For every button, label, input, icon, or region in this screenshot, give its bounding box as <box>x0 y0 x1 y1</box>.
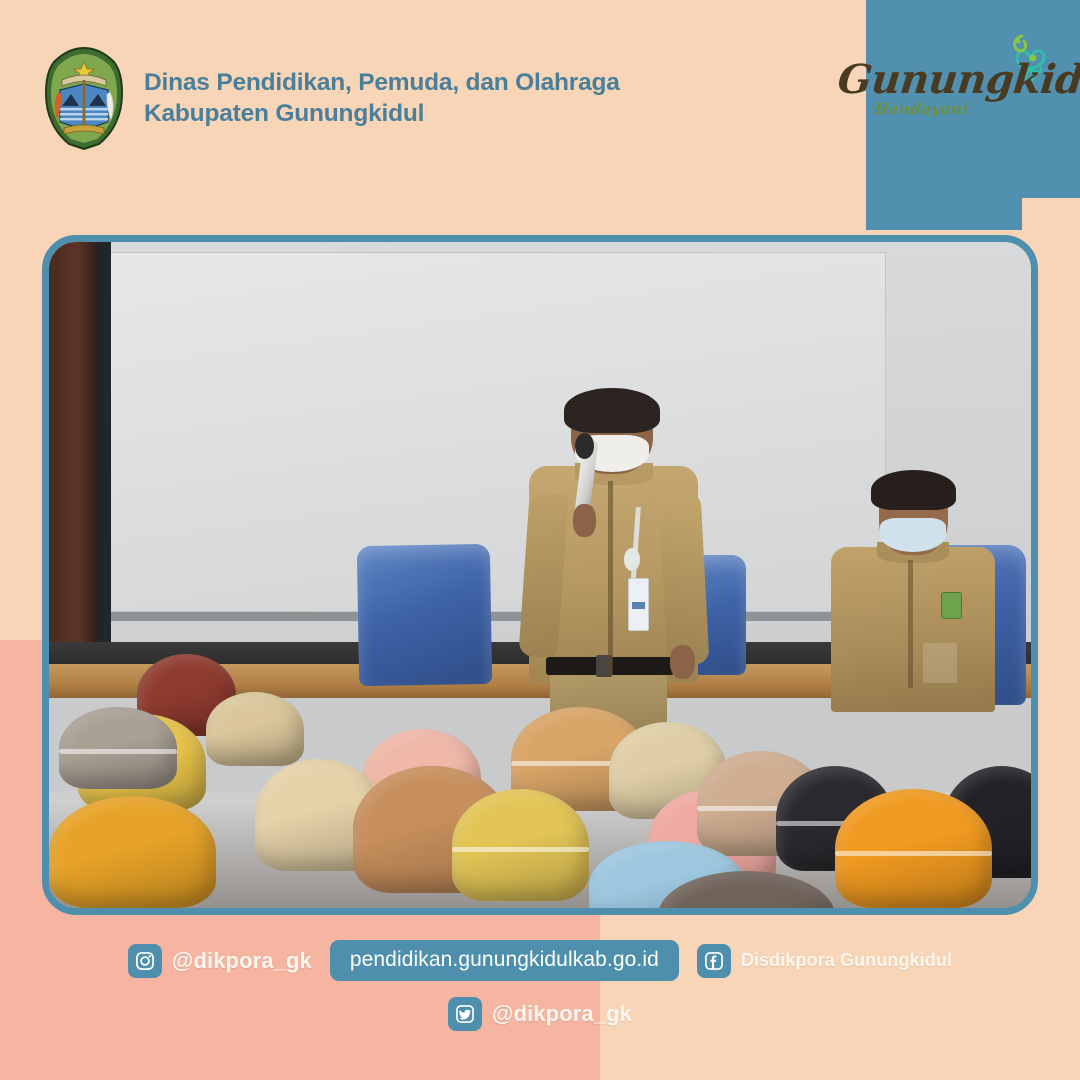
audience-group <box>49 535 1031 908</box>
hijab-orange-front <box>49 796 216 908</box>
hijab-yellow-mid <box>452 789 589 901</box>
poster-canvas: Dinas Pendidikan, Pemuda, dan Olahraga K… <box>0 0 1080 1080</box>
mask-strap <box>59 749 177 754</box>
speaker-hand-holding-mic <box>573 504 596 538</box>
mask-strap <box>452 847 589 852</box>
hijab-grey-mesh <box>59 707 177 789</box>
mask-strap <box>835 851 992 856</box>
event-photo <box>49 242 1031 908</box>
footer: @dikpora_gk pendidikan.gunungkidulkab.go… <box>0 940 1080 1031</box>
event-photo-frame <box>42 235 1038 915</box>
footer-row-primary: @dikpora_gk pendidikan.gunungkidulkab.go… <box>0 940 1080 981</box>
hijab-orange-right <box>835 789 992 908</box>
instagram-contact[interactable]: @dikpora_gk <box>128 944 312 978</box>
header-title-block: Dinas Pendidikan, Pemuda, dan Olahraga K… <box>144 67 620 130</box>
facebook-icon[interactable] <box>697 944 731 978</box>
seated-official-hair <box>871 470 956 510</box>
website-url-pill[interactable]: pendidikan.gunungkidulkab.go.id <box>330 940 679 981</box>
twitter-icon[interactable] <box>448 997 482 1031</box>
footer-row-secondary: @dikpora_gk <box>0 997 1080 1031</box>
twitter-contact[interactable]: @dikpora_gk <box>448 997 632 1031</box>
facebook-contact[interactable]: Disdikpora Gunungkidul <box>697 944 952 978</box>
instagram-handle-label: @dikpora_gk <box>172 948 312 974</box>
facebook-page-label: Disdikpora Gunungkidul <box>741 950 952 971</box>
gunungkidul-brand-logo: Gunungkidul Handayani <box>838 34 1058 130</box>
twitter-handle-label: @dikpora_gk <box>492 1001 632 1027</box>
brand-tagline: Handayani <box>873 100 970 118</box>
gunungkidul-regency-coat-of-arms-icon <box>44 46 124 150</box>
header: Dinas Pendidikan, Pemuda, dan Olahraga K… <box>44 46 620 150</box>
speaker-hair <box>564 388 659 433</box>
page-title-line-2: Kabupaten Gunungkidul <box>144 98 620 129</box>
instagram-icon[interactable] <box>128 944 162 978</box>
page-title-line-1: Dinas Pendidikan, Pemuda, dan Olahraga <box>144 67 620 98</box>
brand-wordmark: Gunungkidul <box>836 56 1080 103</box>
microphone-head <box>575 433 594 459</box>
hijab-cream-far-left <box>206 692 304 767</box>
